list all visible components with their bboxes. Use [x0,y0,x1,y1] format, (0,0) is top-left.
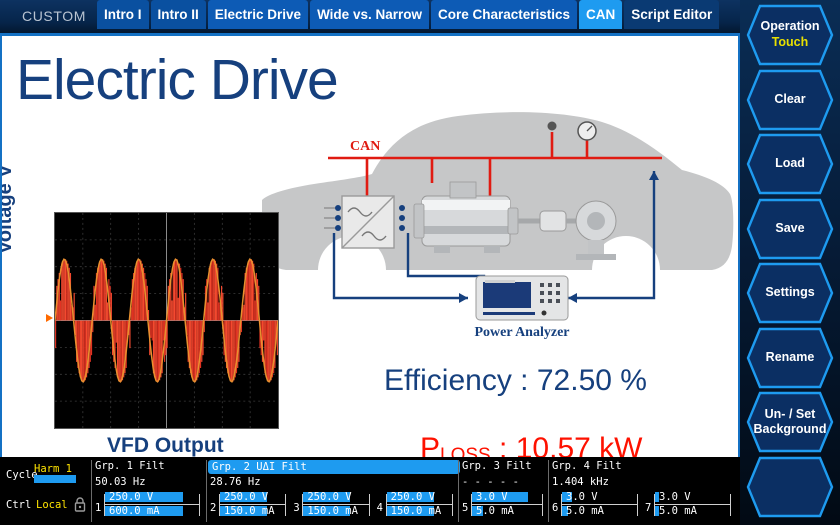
voltage-value: 3.0 V [566,491,598,503]
channel-number: 6 [552,502,558,514]
sidebar-button-settings[interactable]: Settings [746,262,834,324]
ploss-value: 10.57 [516,432,591,457]
lock-icon [74,497,86,512]
ctrl-value[interactable]: Local [36,499,68,511]
channel-meter: 1250.0 V600.0 mA [95,491,201,521]
tab-script-editor[interactable]: Script Editor [624,0,719,29]
tab-core-characteristics[interactable]: Core Characteristics [431,0,577,29]
sidebar-button-operation[interactable]: OperationTouch [746,4,834,66]
channel-meter: 3250.0 V150.0 mA [293,491,370,521]
current-value: 600.0 mA [109,505,160,517]
current-value: 150.0 mA [391,505,442,517]
custom-label: CUSTOM [22,8,86,24]
sidebar-button-clear[interactable]: Clear [746,69,834,131]
power-loss-readout: PLOSS : 10.57 kW [420,432,642,457]
efficiency-value: 72.50 [537,364,612,397]
meter-right-cap [452,494,453,516]
group-title: Grp. 2 UΔI Filt [208,460,460,474]
channel-number: 5 [462,502,468,514]
channel-meter: 73.0 V5.0 mA [645,491,732,521]
meter-right-cap [730,494,731,516]
group-title: Grp. 1 Filt [95,460,165,472]
sidebar-button-sublabel2: Background [754,422,827,437]
sidebar-button-label: Rename [766,350,815,366]
sidebar-button-label: Clear [774,92,805,108]
group-separator [458,460,459,522]
channel-number: 1 [95,502,101,514]
meter-right-cap [637,494,638,516]
cycle-bar [34,475,76,483]
voltage-value: 3.0 V [476,491,508,503]
group-separator [548,460,549,522]
ploss-separator: : [491,432,516,457]
trigger-marker-icon [46,314,53,322]
tab-electric-drive[interactable]: Electric Drive [208,0,308,29]
group-frequency: 1.404 kHz [552,476,609,488]
channel-number: 3 [293,502,299,514]
sidebar-button-sublabel: Touch [772,35,809,51]
channel-meter: 4250.0 V150.0 mA [377,491,454,521]
meter-right-cap [199,494,200,516]
current-value: 5.0 mA [659,505,697,517]
channel-number: 4 [377,502,383,514]
sidebar-button-label: Un- / Set [765,407,816,423]
ctrl-label: Ctrl [6,499,31,511]
meter-right-cap [369,494,370,516]
tab-list: Intro IIntro IIElectric DriveWide vs. Na… [97,0,721,34]
current-value: 5.0 mA [476,505,514,517]
tab-wide-vs-narrow[interactable]: Wide vs. Narrow [310,0,429,29]
voltage-value: 250.0 V [391,491,435,503]
meter-right-cap [542,494,543,516]
scope-caption: VFD Output [107,434,224,457]
sidebar-button-label: Settings [765,285,814,301]
cycle-value: Harm 1 [34,463,72,475]
ploss-unit: kW [599,432,642,457]
oscilloscope-display [54,212,279,429]
ploss-subscript: LOSS [440,445,491,457]
status-bar: Cycle Harm 1 Ctrl Local Grp. 1 Filt50.03… [0,457,740,525]
sidebar-button-label: Save [775,221,804,237]
current-value: 150.0 mA [307,505,358,517]
voltage-value: 250.0 V [224,491,268,503]
efficiency-readout: Efficiency : 72.50 % [384,364,647,398]
main-content-panel: Electric Drive CAN [2,36,738,457]
sidebar-button-save[interactable]: Save [746,198,834,260]
power-analyzer-icon [476,276,568,320]
channel-number: 2 [210,502,216,514]
group-separator [91,460,92,522]
power-analyzer-label: Power Analyzer [475,325,570,340]
tab-intro-ii[interactable]: Intro II [151,0,206,29]
sidebar-button-label: Load [775,156,805,172]
vehicle-diagram: CAN [262,108,734,348]
group-frequency: 50.03 Hz [95,476,146,488]
meter-right-cap [285,494,286,516]
application-window: CUSTOM Intro IIntro IIElectric DriveWide… [0,0,840,525]
efficiency-label: Efficiency : [384,364,529,397]
sidebar-button-label: Operation [760,19,819,35]
current-value: 5.0 mA [566,505,604,517]
sidebar-button-rename[interactable]: Rename [746,327,834,389]
efficiency-unit: % [620,364,647,397]
current-value: 150.0 mA [224,505,275,517]
channel-meter: 2250.0 V150.0 mA [210,491,287,521]
group-frequency: - - - - - [462,476,519,488]
page-title: Electric Drive [16,52,338,109]
tab-can[interactable]: CAN [579,0,622,29]
sidebar: OperationTouchClearLoadSaveSettingsRenam… [740,0,840,525]
voltage-value: 3.0 V [659,491,691,503]
sidebar-button-empty[interactable] [746,456,834,518]
channel-number: 7 [645,502,651,514]
voltage-value: 250.0 V [307,491,351,503]
group-separator [206,460,207,522]
group-title: Grp. 3 Filt [462,460,532,472]
group-frequency: 28.76 Hz [210,476,261,488]
channel-meter: 63.0 V5.0 mA [552,491,639,521]
scope-y-axis-label: Voltage V [2,164,17,254]
ploss-label: P [420,432,440,457]
channel-meter: 53.0 V5.0 mA [462,491,544,521]
cycle-label: Cycle [6,469,38,481]
sidebar-button-load[interactable]: Load [746,133,834,195]
tab-intro-i[interactable]: Intro I [97,0,149,29]
group-title: Grp. 4 Filt [552,460,622,472]
voltage-value: 250.0 V [109,491,153,503]
tab-bar: CUSTOM Intro IIntro IIElectric DriveWide… [0,0,740,34]
sidebar-button-set-background[interactable]: Un- / SetBackground [746,391,834,453]
can-label: CAN [350,139,380,154]
